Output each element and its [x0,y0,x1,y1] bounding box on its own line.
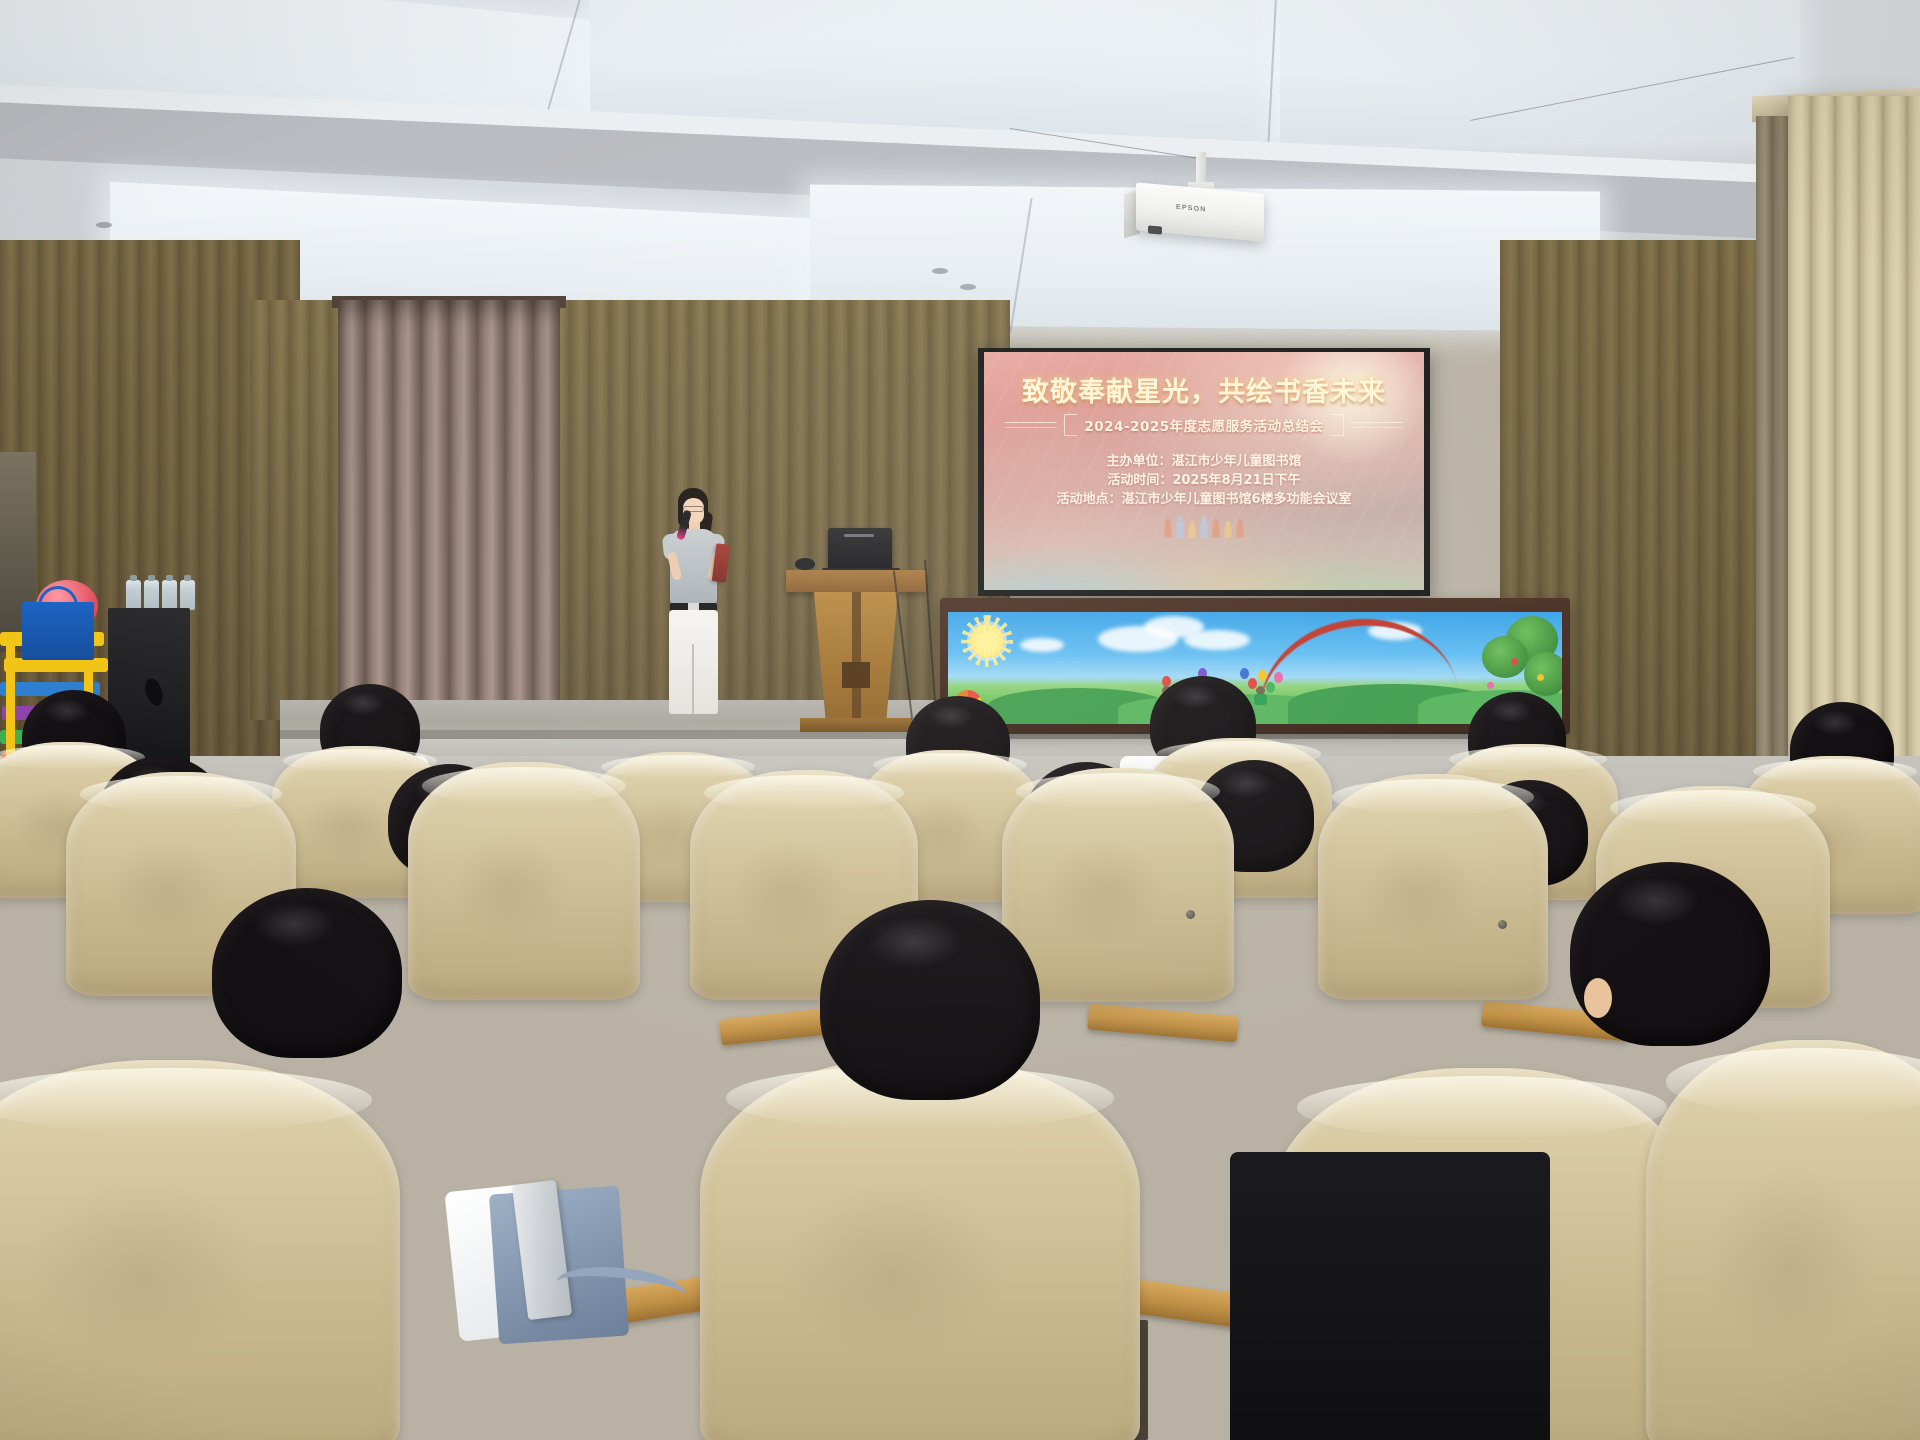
mural-balloon [1266,682,1275,693]
blue-tote-bag [22,602,94,660]
podium-center-block [842,662,870,688]
presenter-pants [669,610,718,714]
ceiling-sensor-2 [932,268,948,274]
screen-decorative-figures [1165,520,1244,538]
mural-flower [1487,682,1494,689]
screen-detail-lines: 主办单位：湛江市少年儿童图书馆 活动时间：2025年8月21日下午 活动地点：湛… [984,452,1424,509]
screen-subtitle: 2024-2025年度志愿服务活动总结会 [1084,415,1323,435]
auditorium-seat[interactable] [1646,1040,1920,1440]
screen-headline: 致敬奉献星光，共绘书香未来 [984,370,1424,409]
water-bottle [180,580,195,610]
audience-shirt [1230,1152,1550,1440]
mural-tree [1482,636,1528,678]
water-bottle [144,580,159,610]
kid-chair-leg [6,632,15,766]
screen-rule-right [1351,422,1403,428]
screen-figure [1237,523,1244,538]
screen-bracket-right [1331,414,1344,436]
screen-figure [1213,523,1220,538]
auditorium-seat[interactable] [1318,774,1548,1000]
mural-child-figure [1254,686,1267,710]
screen-figure [1225,525,1232,538]
mural-flower [1511,658,1518,665]
mural-flower [1537,674,1544,681]
mural-sun-icon [970,624,1004,658]
seat-rivet [1186,910,1195,919]
podium-mouse [795,558,815,570]
conference-room-photo: 致敬奉献星光，共绘书香未来 2024-2025年度志愿服务活动总结会 主办单位：… [0,0,1920,1440]
water-bottle [126,580,141,610]
audience-head [820,900,1040,1100]
audience-head [1570,862,1770,1046]
mural-balloon [1258,670,1267,681]
water-bottle-row [126,576,198,610]
podium-top [786,570,926,592]
audience-head [212,888,402,1058]
column-side-face [1756,116,1790,816]
screen-bracket-left [1064,414,1077,436]
podium-laptop [828,528,892,570]
auditorium-seat[interactable] [700,1058,1140,1440]
mural-balloon [1274,672,1283,683]
seat-armrest[interactable] [1087,1004,1239,1043]
podium-base [800,718,912,732]
screen-figure [1177,520,1184,538]
projection-screen: 致敬奉献星光，共绘书香未来 2024-2025年度志愿服务活动总结会 主办单位：… [984,352,1424,590]
screen-subtitle-row: 2024-2025年度志愿服务活动总结会 [984,414,1424,436]
screen-figure [1165,523,1172,538]
ceiling-sensor-1 [96,222,112,228]
auditorium-seat[interactable] [1002,768,1234,1002]
mural-balloon [1240,668,1249,679]
screen-detail-organizer: 主办单位：湛江市少年儿童图书馆 [984,452,1424,471]
stage-curtain [338,300,560,730]
screen-figure [1189,525,1196,538]
water-bottle [162,580,177,610]
mural-cloud [1184,630,1250,650]
projector-lens [1148,225,1162,234]
screen-figure [1201,520,1208,538]
mural-tree [1524,652,1562,696]
screen-detail-location: 活动地点：湛江市少年儿童图书馆6楼多功能会议室 [984,490,1424,509]
audience-ear [1584,978,1612,1018]
laptop-logo [844,534,874,537]
screen-detail-time: 活动时间：2025年8月21日下午 [984,471,1424,490]
mural-board [948,612,1562,724]
auditorium-seat[interactable] [408,762,640,1000]
seat-rivet [1498,920,1507,929]
presenter [636,488,746,738]
mural-child-body [1254,694,1267,705]
projector-brand-label: EPSON [1176,204,1207,214]
ceiling-sensor-3 [960,284,976,290]
podium-center-stripe [852,592,861,724]
screen-rule-left [1005,422,1057,428]
auditorium-seat[interactable] [0,1060,400,1440]
mural-cloud [1020,638,1064,652]
